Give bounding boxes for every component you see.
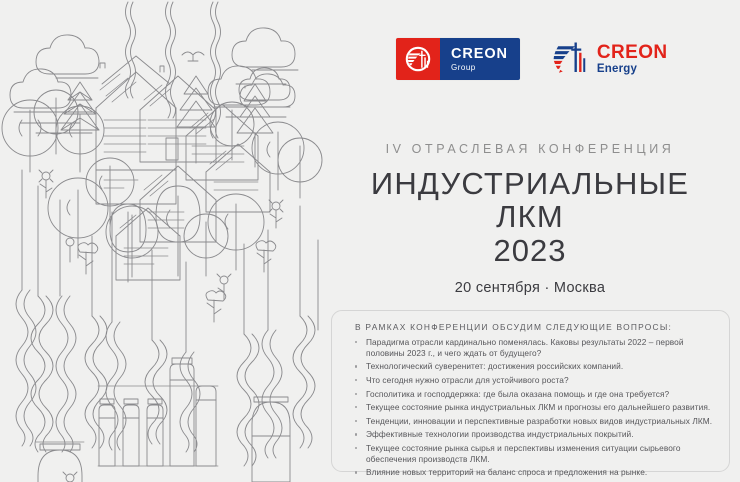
vertical-pipes	[22, 170, 318, 352]
conifer-tree-icon	[61, 82, 99, 170]
shelf-lines	[36, 386, 218, 466]
list-item: Эффективные технологии производства инду…	[352, 429, 715, 440]
list-item: Тенденции, инновации и перспективные раз…	[352, 416, 715, 427]
cloud-icon	[10, 35, 99, 133]
oval-tree-icon	[156, 186, 200, 276]
agenda-panel-title: В РАМКАХ КОНФЕРЕНЦИИ ОБСУДИМ СЛЕДУЮЩИЕ В…	[355, 322, 715, 332]
list-item: Текущее состояние рынка индустриальных Л…	[352, 402, 715, 413]
cloud-icon	[208, 28, 298, 117]
date-location: 20 сентября · Москва	[340, 280, 720, 296]
creon-energy-logo: CREON Energy	[550, 38, 668, 80]
flower-icon	[217, 274, 231, 300]
list-item: Что сегодня нужно отрасли для устойчивог…	[352, 375, 715, 386]
round-tree-icon	[252, 122, 304, 190]
round-tree-icon	[210, 102, 254, 160]
page-title: ИНДУСТРИАЛЬНЫЕ ЛКМ 2023	[340, 167, 720, 267]
creon-group-logo: CREON Group	[396, 38, 520, 80]
round-tree-icon	[48, 178, 108, 258]
building-house	[96, 170, 176, 204]
building-house	[116, 208, 180, 280]
flower-icon	[256, 241, 276, 272]
creon-group-word-sub: Group	[451, 64, 476, 72]
flowing-ribbon	[16, 290, 315, 466]
conifer-tree-icon	[177, 76, 215, 163]
flower-icon	[66, 238, 74, 262]
oval-tree-icon	[110, 204, 146, 282]
flower-icon	[78, 243, 98, 274]
smoke-wave	[126, 2, 221, 138]
title-line-2: ЛКМ	[340, 200, 720, 233]
round-tree-icon	[34, 90, 78, 154]
flower-icon	[269, 200, 283, 228]
paint-cylinder-icon	[147, 399, 163, 466]
round-tree-icon	[86, 158, 134, 224]
title-line-1: ИНДУСТРИАЛЬНЫЕ	[371, 166, 689, 201]
list-item: Технологический суверенитет: достижения …	[352, 361, 715, 372]
building-house	[186, 104, 258, 180]
round-tree-icon	[106, 206, 158, 277]
round-tree-icon	[56, 106, 104, 172]
paint-can-icon	[38, 444, 82, 482]
round-tree-icon	[184, 214, 228, 276]
paint-cylinder-icon	[196, 386, 216, 466]
flower-icon	[63, 472, 77, 482]
conference-kicker: IV ОТРАСЛЕВАЯ КОНФЕРЕНЦИЯ	[340, 142, 720, 156]
building-house	[206, 144, 270, 212]
list-item: Парадигма отрасли кардинально поменялась…	[352, 337, 715, 359]
conference-poster: CREON Group	[0, 0, 740, 482]
list-item: Госполитика и господдержка: где была ока…	[352, 389, 715, 400]
cityscape-line-art-illustration	[0, 0, 340, 482]
flower-icon	[206, 291, 226, 322]
building-house	[140, 66, 216, 162]
conifer-tree-icon	[237, 84, 273, 167]
logo-bar: CREON Group	[396, 38, 668, 80]
building-house	[140, 166, 216, 242]
building-house	[166, 138, 178, 160]
building-house	[96, 56, 176, 170]
cloud-icon	[239, 68, 290, 100]
paint-can-icon	[252, 397, 290, 482]
agenda-question-list: Парадигма отрасли кардинально поменялась…	[352, 337, 715, 478]
creon-circle-tower-icon	[396, 38, 440, 80]
round-tree-icon	[208, 194, 264, 270]
round-tree-icon	[2, 100, 58, 172]
cloud-icon	[240, 74, 295, 107]
list-item: Влияние новых территорий на баланс спрос…	[352, 467, 715, 478]
agenda-panel: В РАМКАХ КОНФЕРЕНЦИИ ОБСУДИМ СЛЕДУЮЩИЕ В…	[331, 310, 730, 472]
round-tree-icon	[278, 138, 322, 198]
creon-energy-word-main: CREON	[597, 43, 668, 62]
creon-energy-wordmark: CREON Energy	[597, 43, 668, 76]
bird-icon	[182, 52, 204, 61]
paint-cylinder-icon	[123, 399, 139, 466]
paint-cylinder-icon	[99, 399, 115, 466]
creon-group-wordmark: CREON Group	[440, 38, 520, 80]
headline-block: IV ОТРАСЛЕВАЯ КОНФЕРЕНЦИЯ ИНДУСТРИАЛЬНЫЕ…	[340, 142, 720, 296]
creon-energy-word-sub: Energy	[597, 64, 637, 76]
creon-energy-circle-tower-icon	[550, 37, 590, 82]
creon-group-word-main: CREON	[451, 47, 508, 62]
paint-cylinder-icon	[170, 358, 194, 466]
list-item: Текущее состояние рынка сырья и перспект…	[352, 443, 715, 465]
flower-icon	[39, 170, 53, 198]
title-line-3: 2023	[340, 234, 720, 267]
